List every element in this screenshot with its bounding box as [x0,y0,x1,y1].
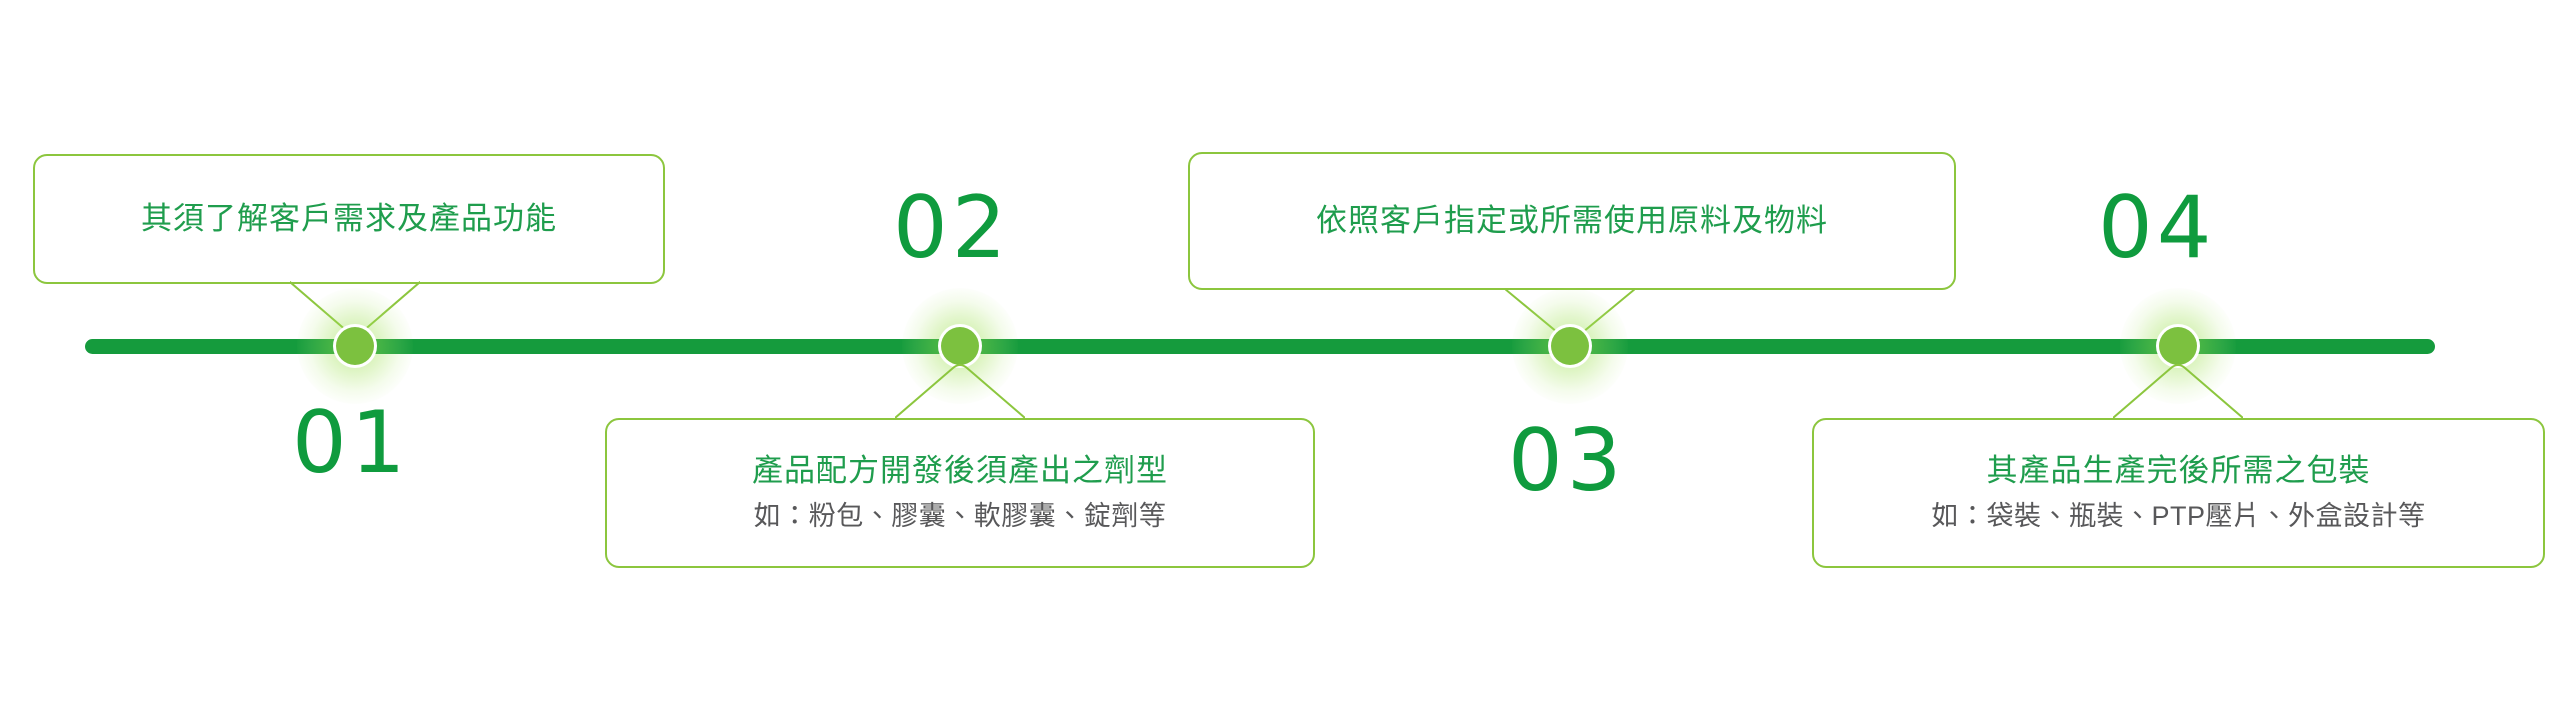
step-bubble-02: 產品配方開發後須產出之劑型 如：粉包、膠囊、軟膠囊、錠劑等 [605,418,1315,568]
step-number-01: 01 [292,400,409,486]
step-number-04: 04 [2098,185,2215,271]
step-bubble-subtitle-02: 如：粉包、膠囊、軟膠囊、錠劑等 [754,498,1167,536]
timeline-bar [85,339,2435,354]
step-bubble-title-04: 其產品生產完後所需之包裝 [1987,450,2371,493]
dot-core-icon [1551,327,1589,365]
dot-core-icon [336,327,374,365]
step-number-03: 03 [1508,418,1625,504]
bubble-tail-04 [2113,362,2243,420]
step-bubble-title-01: 其須了解客戶需求及產品功能 [141,198,557,241]
step-bubble-04: 其產品生產完後所需之包裝 如：袋裝、瓶裝、PTP壓片、外盒設計等 [1812,418,2545,568]
dot-core-icon [2159,327,2197,365]
step-bubble-subtitle-04: 如：袋裝、瓶裝、PTP壓片、外盒設計等 [1931,498,2425,536]
bubble-tail-02 [895,362,1025,420]
step-number-02: 02 [893,185,1010,271]
step-bubble-03: 依照客戶指定或所需使用原料及物料 [1188,152,1956,290]
timeline-infographic: 其須了解客戶需求及產品功能 01 02 產品配方開發後須產出之劑型 如：粉包、膠… [0,0,2560,723]
step-bubble-title-02: 產品配方開發後須產出之劑型 [752,450,1168,493]
dot-core-icon [941,327,979,365]
step-bubble-01: 其須了解客戶需求及產品功能 [33,154,665,284]
step-bubble-title-03: 依照客戶指定或所需使用原料及物料 [1316,200,1828,243]
